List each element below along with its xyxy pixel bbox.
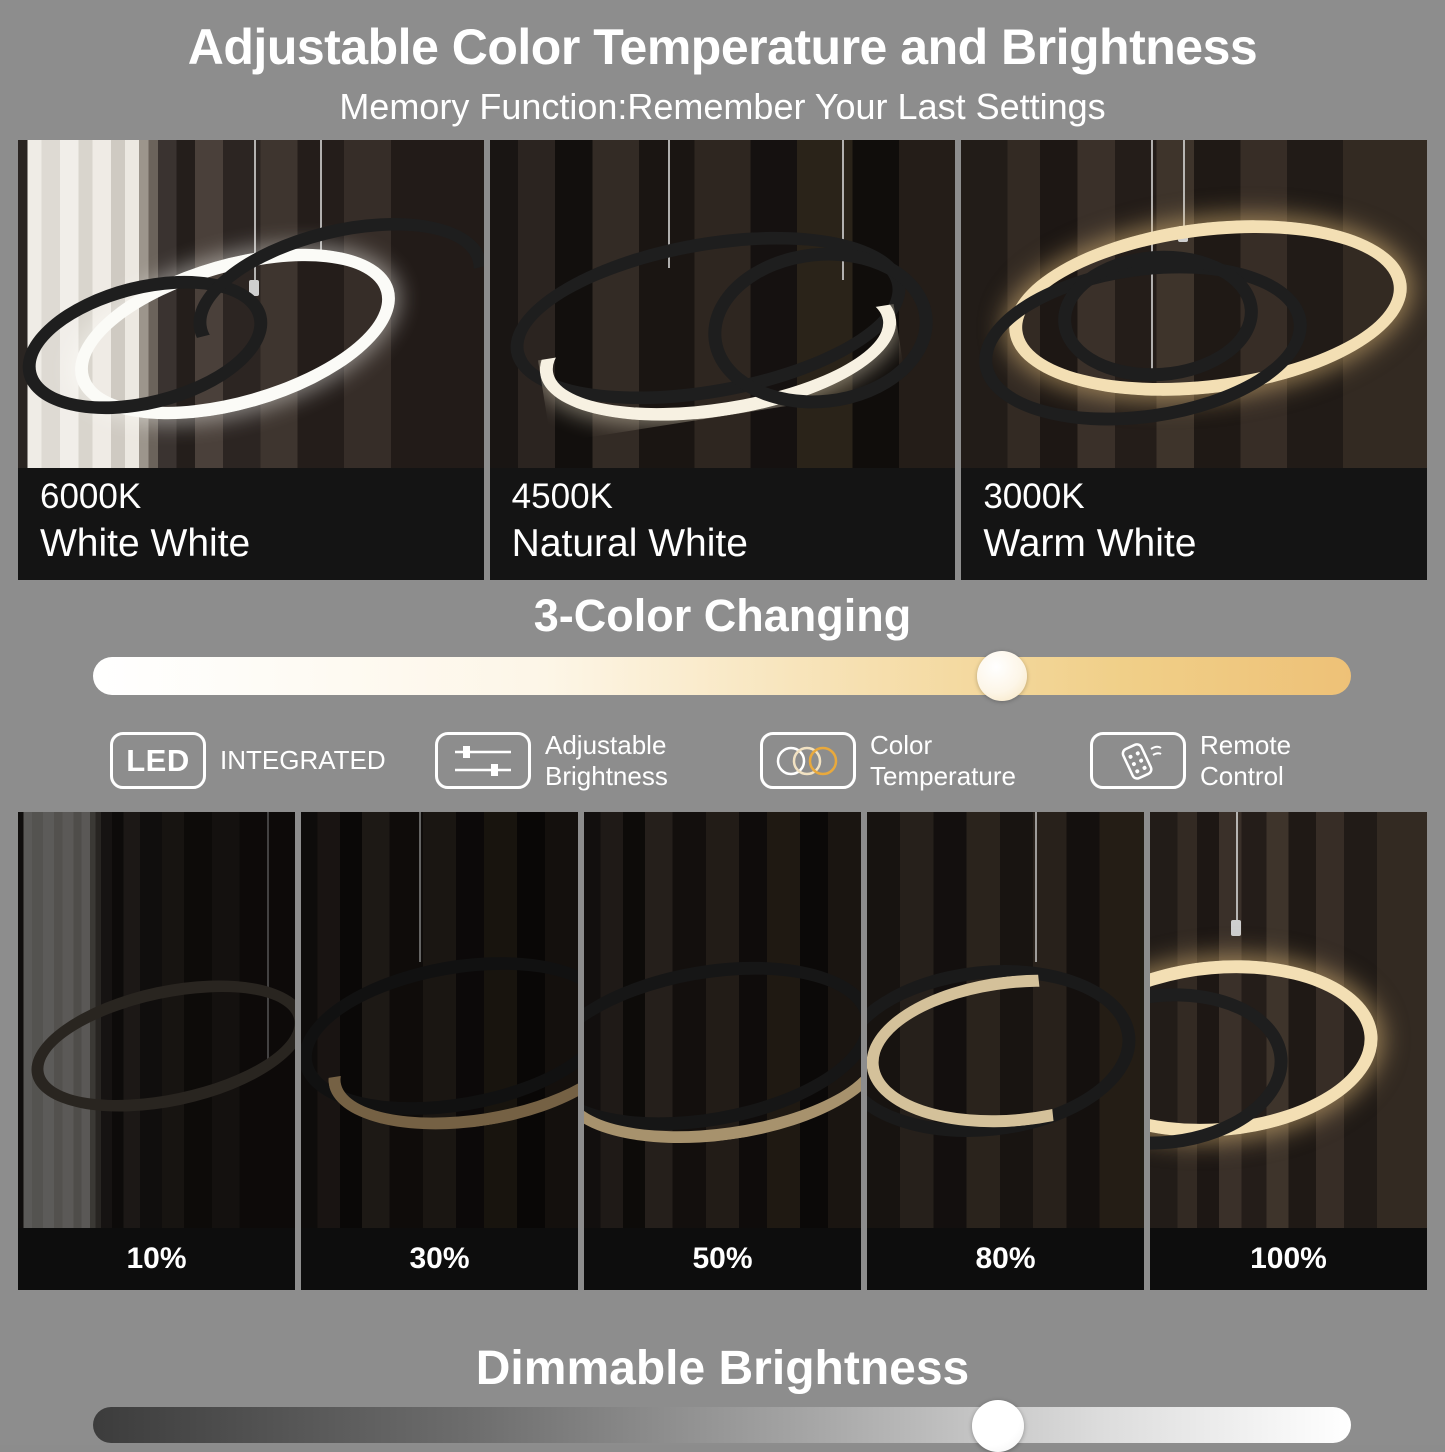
pendant-lamp	[29, 986, 295, 1136]
pendant-lamp	[1150, 961, 1398, 1161]
brightness-level-label: 50%	[584, 1228, 861, 1290]
remote-control-icon	[1090, 732, 1186, 789]
pendant-lamp	[60, 239, 460, 429]
pendant-lamp	[584, 966, 861, 1156]
feature-label-line2: Brightness	[545, 761, 668, 792]
dimmable-brightness-title: Dimmable Brightness	[0, 1340, 1445, 1398]
kelvin-value: 3000K	[983, 474, 1427, 519]
brightness-gallery: 10% 30% 50%	[18, 812, 1427, 1290]
brightness-level-label: 100%	[1150, 1228, 1427, 1290]
brightness-panel-30: 30%	[301, 812, 578, 1290]
led-badge-icon: LED	[110, 732, 206, 789]
color-temp-caption: 6000K White White	[18, 468, 484, 580]
brightness-panel-10: 10%	[18, 812, 295, 1290]
brightness-slider[interactable]	[93, 1407, 1351, 1443]
feature-remote-control: Remote Control	[1090, 723, 1291, 798]
pendant-lamp	[867, 966, 1144, 1156]
brightness-level-label: 30%	[301, 1228, 578, 1290]
feature-label: Adjustable Brightness	[545, 730, 668, 792]
feature-led-integrated: LED INTEGRATED	[110, 723, 386, 798]
color-temp-caption: 4500K Natural White	[490, 468, 956, 580]
infographic-page: Adjustable Color Temperature and Brightn…	[0, 0, 1445, 1445]
wire-clip	[1231, 920, 1241, 936]
feature-label: INTEGRATED	[220, 745, 386, 776]
brightness-level-label: 80%	[867, 1228, 1144, 1290]
color-temp-panel-6000k: 6000K White White	[18, 140, 484, 580]
pendant-lamp	[508, 238, 938, 438]
hanging-wire	[1183, 140, 1185, 230]
led-badge-text: LED	[126, 743, 190, 779]
pendant-lamp	[988, 233, 1418, 443]
color-temperature-slider-knob[interactable]	[977, 651, 1027, 701]
color-changing-title: 3-Color Changing	[0, 588, 1445, 644]
color-temperature-slider[interactable]	[93, 657, 1351, 695]
three-circles-glyph	[774, 744, 842, 778]
feature-color-temperature: Color Temperature	[760, 723, 1016, 798]
color-name: Natural White	[512, 519, 956, 569]
brightness-panel-100: 100%	[1150, 812, 1427, 1290]
hanging-wire	[419, 812, 421, 962]
brightness-slider-glyph	[451, 742, 515, 780]
hanging-wire	[1236, 812, 1238, 924]
page-subtitle: Memory Function:Remember Your Last Setti…	[0, 84, 1445, 130]
hanging-wire	[1035, 812, 1037, 962]
color-temp-panel-4500k: 4500K Natural White	[490, 140, 956, 580]
feature-label-line2: Control	[1200, 761, 1291, 792]
color-name: White White	[40, 519, 484, 569]
color-temperature-gallery: 6000K White White 4500K Natural White	[18, 140, 1427, 580]
color-temp-caption: 3000K Warm White	[961, 468, 1427, 580]
feature-label-line1: Remote	[1200, 730, 1291, 761]
feature-label-line1: Adjustable	[545, 730, 668, 761]
kelvin-value: 4500K	[512, 474, 956, 519]
page-title: Adjustable Color Temperature and Brightn…	[0, 16, 1445, 78]
feature-adjustable-brightness: Adjustable Brightness	[435, 723, 668, 798]
feature-label-line1: Color	[870, 730, 1016, 761]
brightness-slider-icon	[435, 732, 531, 789]
brightness-panel-80: 80%	[867, 812, 1144, 1290]
feature-label-line2: Temperature	[870, 761, 1016, 792]
brightness-slider-knob[interactable]	[972, 1400, 1024, 1452]
color-temp-panel-3000k: 3000K Warm White	[961, 140, 1427, 580]
brightness-level-label: 10%	[18, 1228, 295, 1290]
remote-control-glyph	[1107, 741, 1169, 781]
kelvin-value: 6000K	[40, 474, 484, 519]
color-name: Warm White	[983, 519, 1427, 569]
feature-icon-row: LED INTEGRATED Adjustable Brightness	[100, 723, 1350, 798]
three-circles-icon	[760, 732, 856, 789]
feature-label: Remote Control	[1200, 730, 1291, 792]
feature-label: Color Temperature	[870, 730, 1016, 792]
brightness-panel-50: 50%	[584, 812, 861, 1290]
pendant-lamp	[301, 961, 578, 1141]
